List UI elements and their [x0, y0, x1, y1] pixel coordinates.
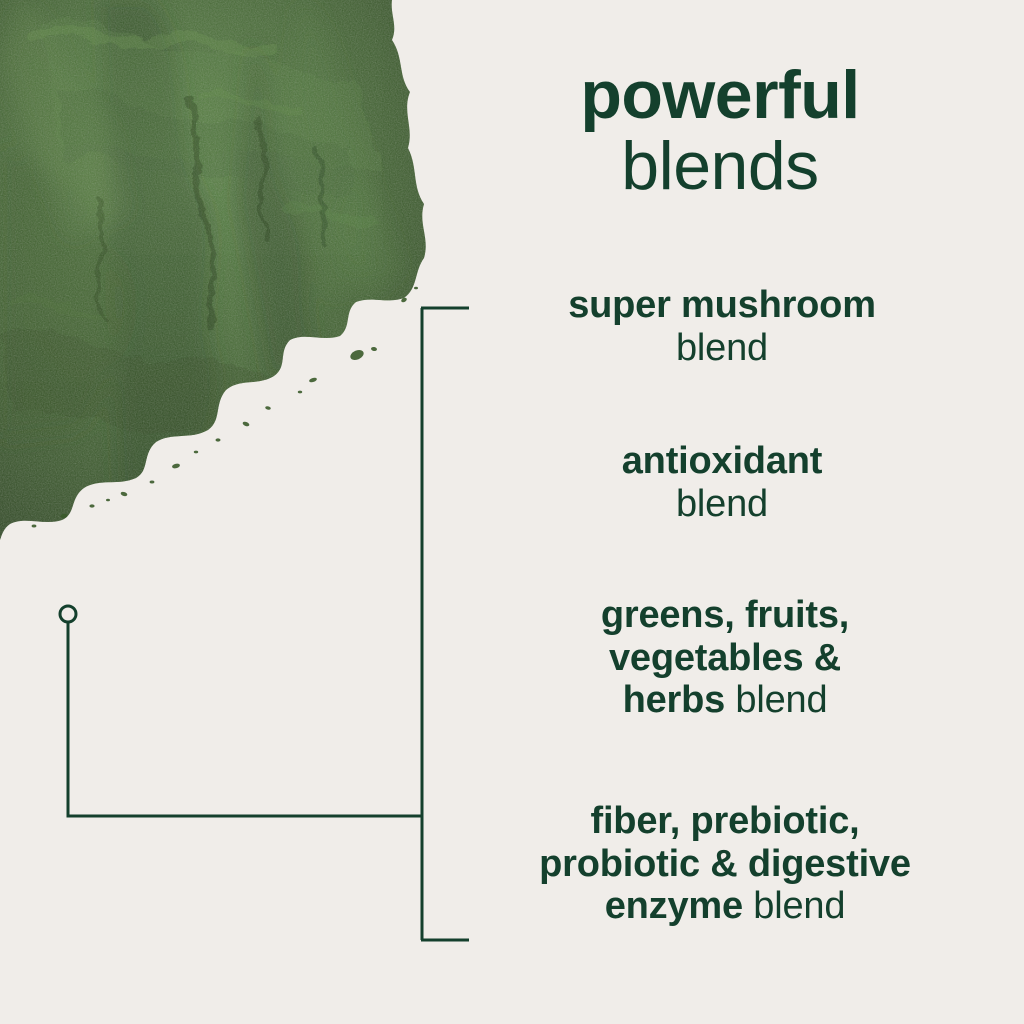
blend-bold-tail: enzyme	[605, 885, 754, 927]
connector-circle-marker	[60, 606, 76, 622]
blend-light-tail: blend	[676, 483, 768, 525]
blend-item: antioxidant blend	[452, 440, 992, 525]
blend-bold-line: super mushroom	[568, 284, 876, 326]
blend-bold-line: antioxidant	[622, 440, 822, 482]
blend-light-tail: blend	[735, 679, 827, 721]
blend-item: fiber, prebiotic, probiotic & digestive …	[445, 800, 1005, 928]
blend-bold-line: probiotic & digestive	[539, 843, 911, 885]
page-title: powerful blends	[470, 62, 970, 199]
blend-bold-tail: herbs	[623, 679, 736, 721]
title-line-1: powerful	[470, 62, 970, 129]
blend-bold-line: greens, fruits,	[601, 594, 849, 636]
title-line-2: blends	[470, 133, 970, 200]
blend-item: super mushroom blend	[452, 284, 992, 369]
blend-light-tail: blend	[753, 885, 845, 927]
blend-light-tail: blend	[676, 327, 768, 369]
blend-bold-line: vegetables &	[609, 637, 841, 679]
greens-powder-image	[0, 0, 460, 560]
product-graphic: powerful blends super mushroom blend ant…	[0, 0, 1024, 1024]
blend-item: greens, fruits, vegetables & herbs blend	[445, 594, 1005, 722]
blend-bold-line: fiber, prebiotic,	[591, 800, 860, 842]
